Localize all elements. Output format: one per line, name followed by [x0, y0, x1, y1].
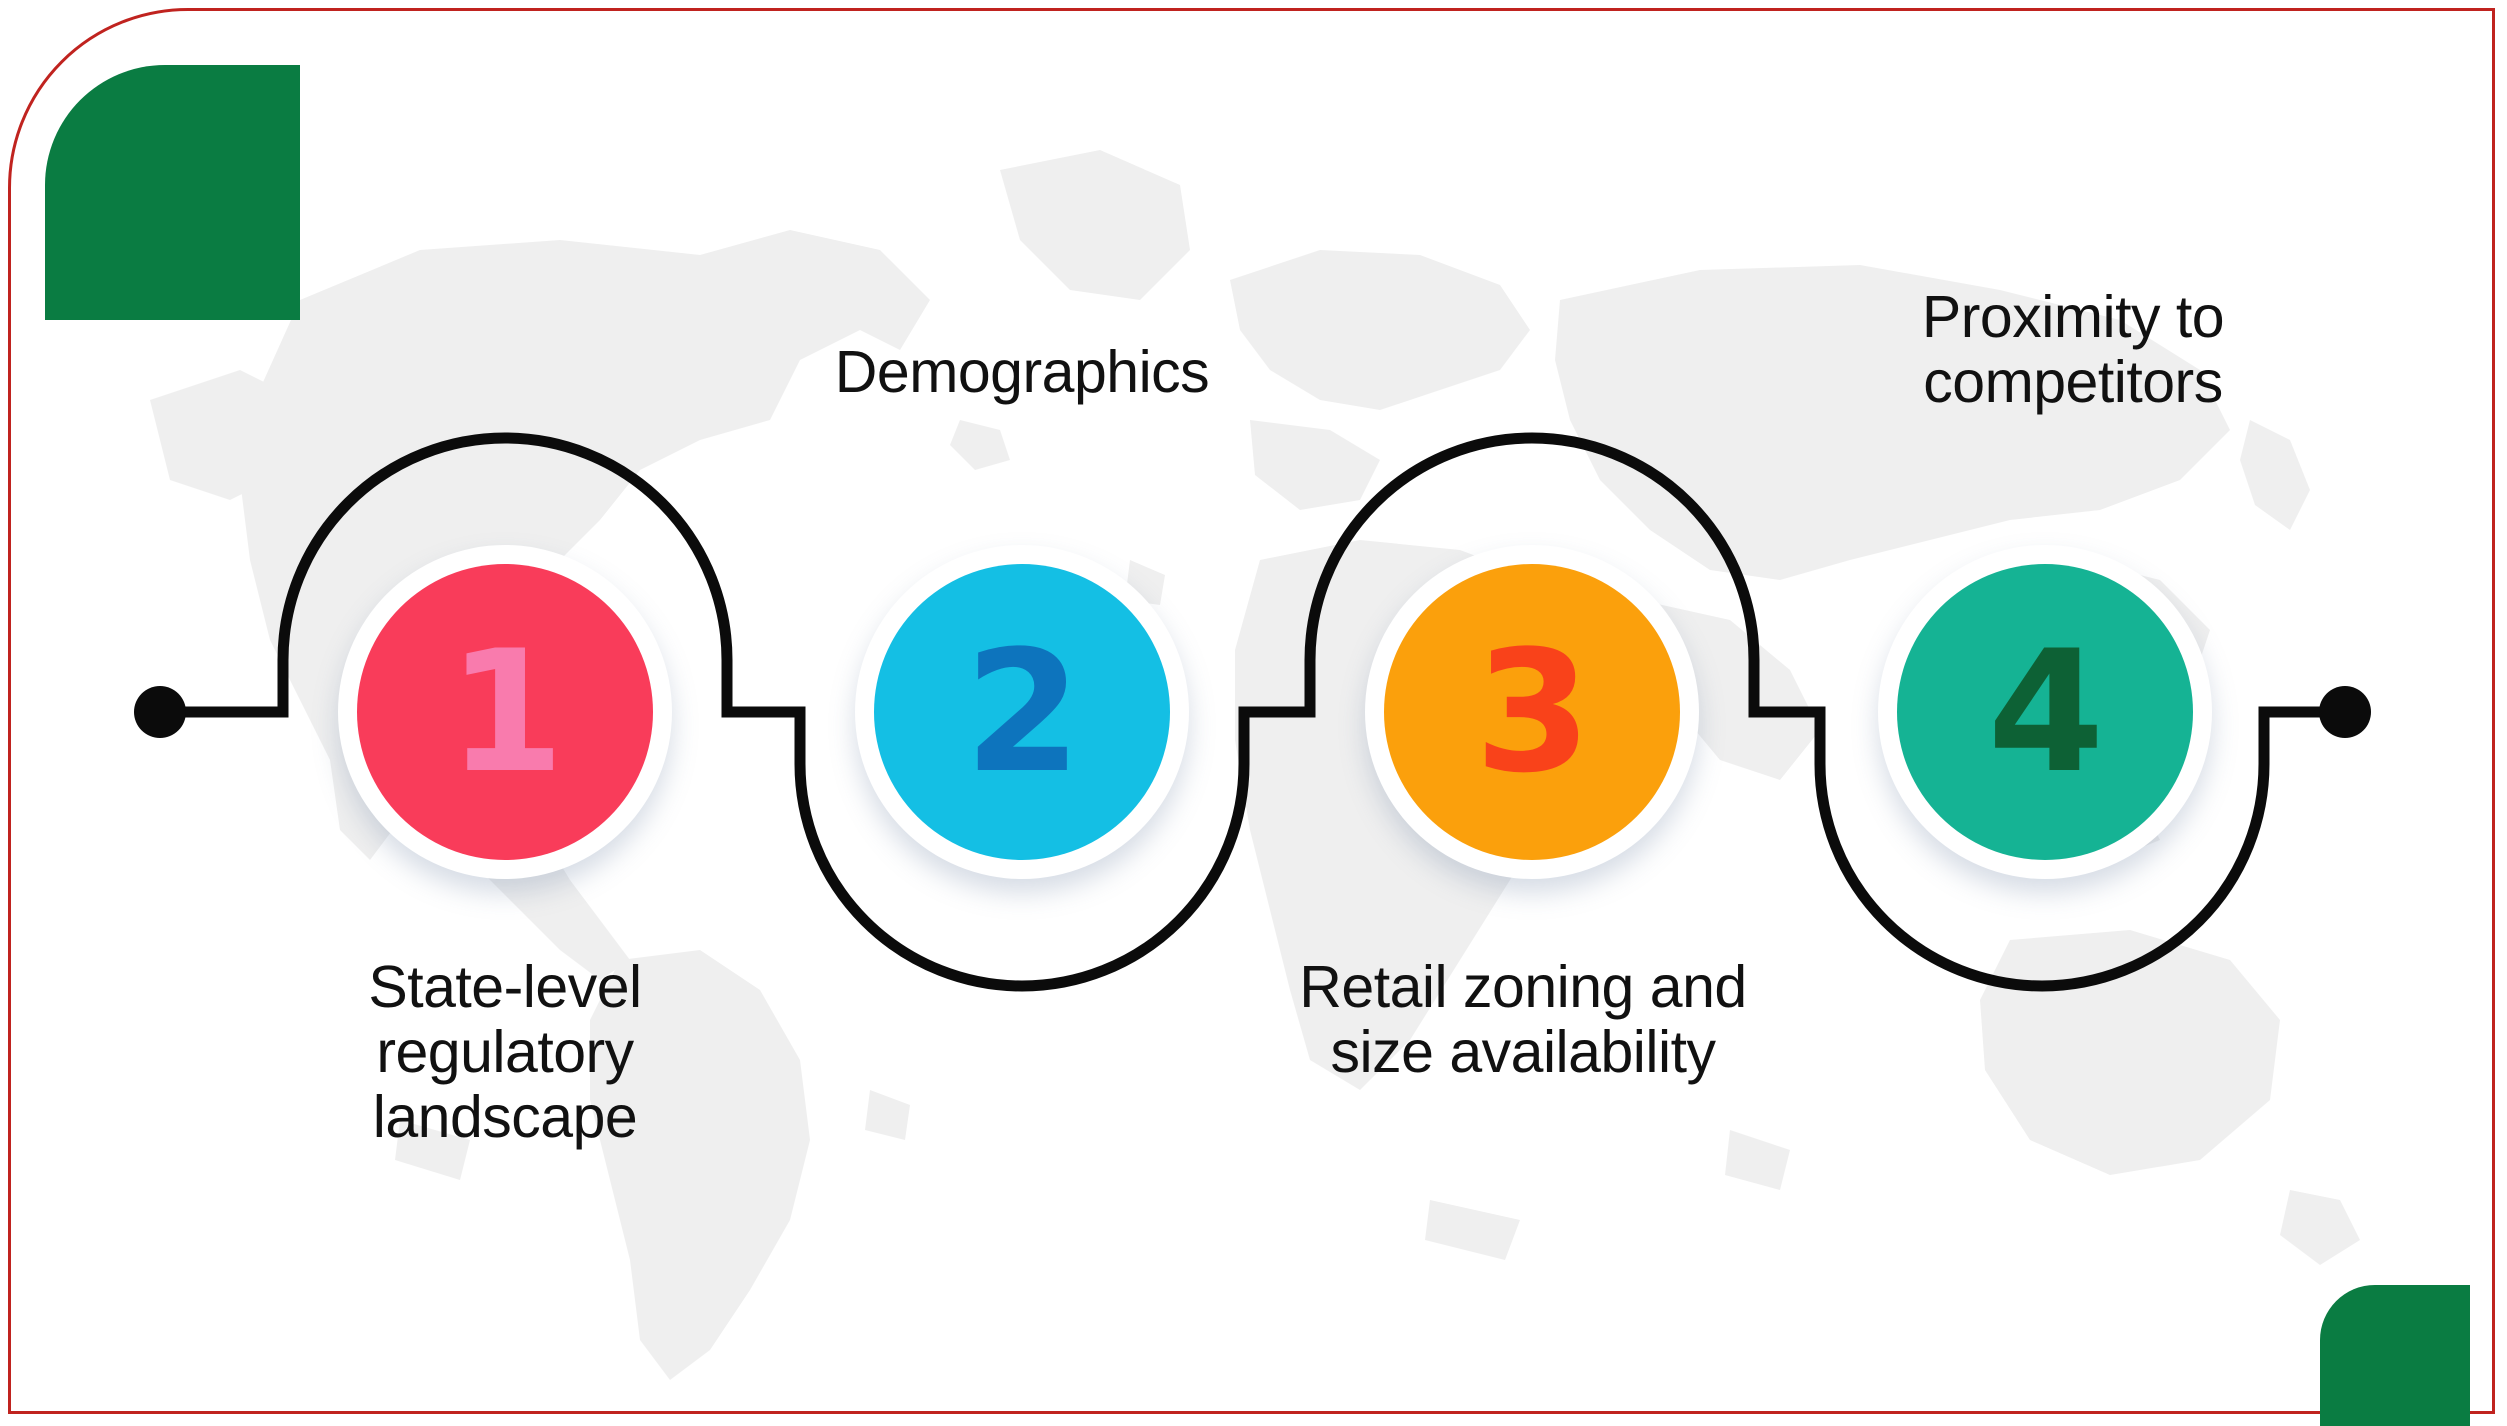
step-node-2[interactable]: 2 — [855, 545, 1189, 879]
step-disc-4: 4 — [1897, 564, 2193, 860]
step-number-2: 2 — [965, 628, 1080, 796]
infographic-canvas: 1 State-level regulatory landscape 2 Dem… — [0, 0, 2507, 1426]
bottom-right-green-block — [2320, 1285, 2470, 1426]
step-node-4[interactable]: 4 — [1878, 545, 2212, 879]
step-number-3: 3 — [1475, 628, 1590, 796]
step-label-4: Proximity to competitors — [1828, 285, 2318, 415]
step-label-2: Demographics — [742, 340, 1302, 405]
top-left-green-block — [45, 65, 300, 320]
step-number-4: 4 — [1988, 628, 2103, 796]
step-disc-3: 3 — [1384, 564, 1680, 860]
step-node-1[interactable]: 1 — [338, 545, 672, 879]
step-number-1: 1 — [448, 628, 563, 796]
step-disc-2: 2 — [874, 564, 1170, 860]
step-disc-1: 1 — [357, 564, 653, 860]
step-label-1: State-level regulatory landscape — [245, 955, 765, 1150]
step-node-3[interactable]: 3 — [1365, 545, 1699, 879]
step-label-3: Retail zoning and size availability — [1288, 955, 1758, 1085]
